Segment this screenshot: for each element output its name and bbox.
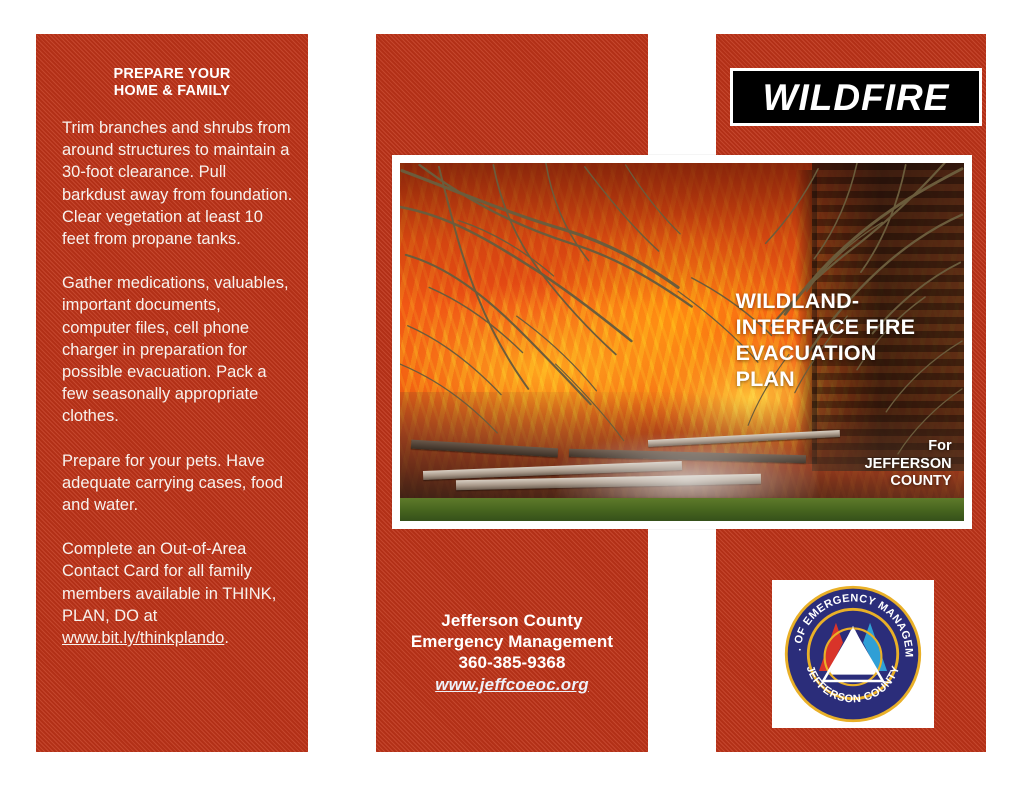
overlay-for-line1: For bbox=[865, 438, 952, 456]
overlay-title-line2: INTERFACE FIRE bbox=[736, 314, 916, 340]
left-panel-paragraph-2: Gather medications, valuables, important… bbox=[62, 272, 294, 427]
org-name-line2: Emergency Management bbox=[376, 631, 648, 652]
wildfire-title-box: WILDFIRE bbox=[730, 68, 982, 126]
overlay-title-line1: WILDLAND- bbox=[736, 288, 916, 314]
smoke-plume bbox=[558, 435, 817, 499]
left-panel-body: Trim branches and shrubs from around str… bbox=[62, 117, 294, 671]
wildfire-title-text: WILDFIRE bbox=[763, 79, 950, 116]
left-panel-paragraph-3: Prepare for your pets. Have adequate car… bbox=[62, 450, 294, 517]
overlay-title-line4: PLAN bbox=[736, 366, 916, 392]
brochure-page: PREPARE YOUR HOME & FAMILY Trim branches… bbox=[0, 0, 1024, 791]
left-panel-paragraph-4: Complete an Out-of-Area Contact Card for… bbox=[62, 538, 294, 649]
seal-graphic: DEPT. OF EMERGENCY MANAGEMENT JEFFERSON … bbox=[782, 583, 924, 725]
contact-block: Jefferson County Emergency Management 36… bbox=[376, 610, 648, 695]
photo-overlay-title: WILDLAND- INTERFACE FIRE EVACUATION PLAN bbox=[736, 288, 916, 392]
left-panel: PREPARE YOUR HOME & FAMILY Trim branches… bbox=[36, 34, 308, 752]
website-link[interactable]: www.jeffcoeoc.org bbox=[435, 675, 589, 695]
left-panel-heading-line1: PREPARE YOUR bbox=[36, 66, 308, 83]
left-panel-paragraph-1: Trim branches and shrubs from around str… bbox=[62, 117, 294, 250]
photo-overlay-for: For JEFFERSON COUNTY bbox=[865, 438, 952, 491]
fire-photo-frame: WILDLAND- INTERFACE FIRE EVACUATION PLAN… bbox=[392, 155, 972, 529]
left-panel-heading: PREPARE YOUR HOME & FAMILY bbox=[36, 66, 308, 100]
overlay-for-line3: COUNTY bbox=[865, 473, 952, 491]
org-name-line1: Jefferson County bbox=[376, 610, 648, 631]
phone-number: 360-385-9368 bbox=[376, 652, 648, 673]
left-panel-heading-line2: HOME & FAMILY bbox=[36, 83, 308, 100]
contact-card-text: Complete an Out-of-Area Contact Card for… bbox=[62, 540, 276, 625]
thinkplando-link[interactable]: www.bit.ly/thinkplando bbox=[62, 629, 224, 647]
grass-strip bbox=[400, 498, 964, 521]
overlay-title-line3: EVACUATION bbox=[736, 340, 916, 366]
overlay-for-line2: JEFFERSON bbox=[865, 456, 952, 474]
fire-photo: WILDLAND- INTERFACE FIRE EVACUATION PLAN… bbox=[400, 163, 964, 521]
contact-card-text-end: . bbox=[224, 629, 229, 647]
emergency-management-seal: DEPT. OF EMERGENCY MANAGEMENT JEFFERSON … bbox=[772, 580, 934, 728]
